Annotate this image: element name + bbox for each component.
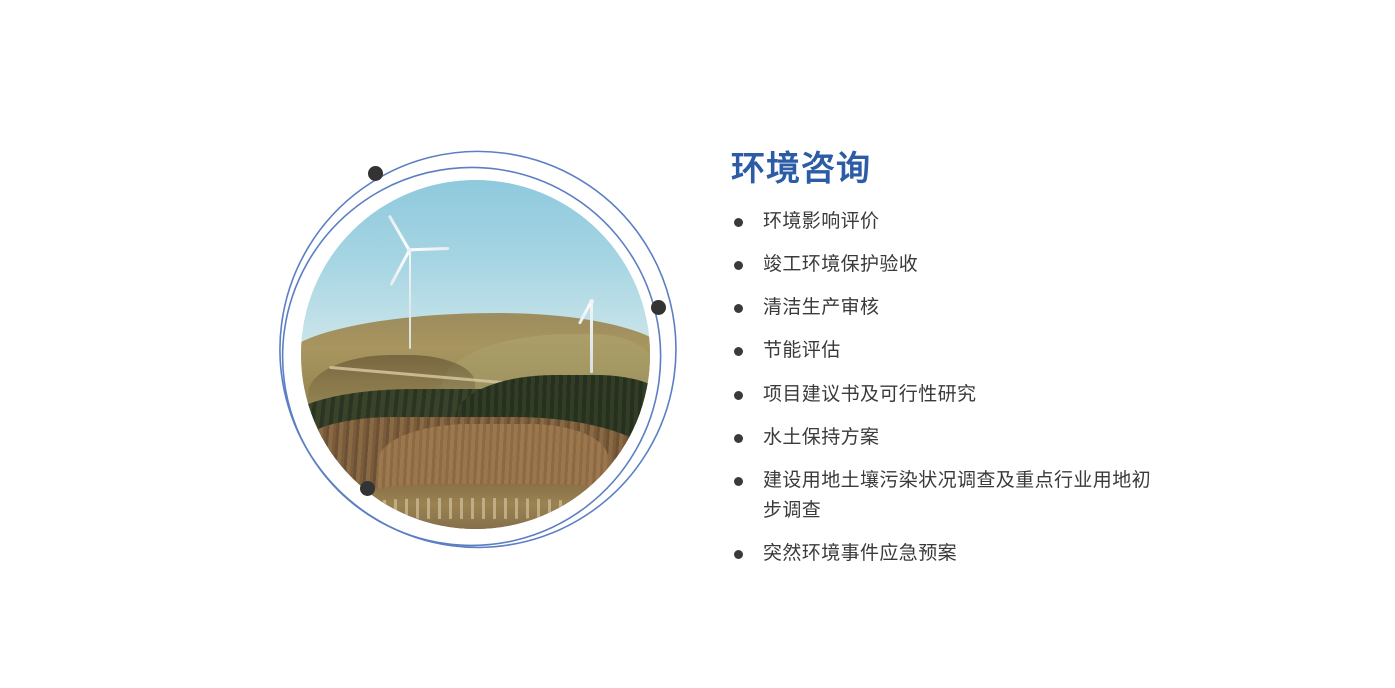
list-item-label: 环境影响评价: [763, 211, 879, 232]
list-item: 突然环境事件应急预案: [731, 539, 1151, 569]
turbine-hub: [407, 248, 412, 253]
clearing-detail: [350, 498, 594, 519]
list-item-label: 突然环境事件应急预案: [763, 543, 957, 564]
service-list: 环境影响评价 竣工环境保护验收 清洁生产审核 节能评估 项目建议书及可行性研究 …: [731, 207, 1151, 568]
turbine-mast: [590, 301, 593, 373]
list-item: 水土保持方案: [731, 423, 1151, 453]
page-title: 环境咨询: [731, 150, 1151, 189]
list-item-label: 建设用地土壤污染状况调查及重点行业用地初步调查: [763, 470, 1151, 521]
list-item: 节能评估: [731, 336, 1151, 366]
bullet-icon: [734, 550, 743, 559]
list-item: 清洁生产审核: [731, 293, 1151, 323]
content-column: 环境咨询 环境影响评价 竣工环境保护验收 清洁生产审核 节能评估 项目建议书及可…: [731, 150, 1151, 582]
list-item: 项目建议书及可行性研究: [731, 380, 1151, 410]
landscape-photo: [301, 180, 650, 529]
slide-root: 环境咨询 环境影响评价 竣工环境保护验收 清洁生产审核 节能评估 项目建议书及可…: [0, 0, 1395, 688]
turbine-hub: [589, 299, 594, 304]
ring-dot-bottom: [360, 481, 375, 496]
bullet-icon: [734, 391, 743, 400]
list-item-label: 竣工环境保护验收: [763, 254, 918, 275]
list-item-label: 节能评估: [763, 340, 841, 361]
bullet-icon: [734, 477, 743, 486]
turbine-blade: [390, 250, 411, 287]
bullet-icon: [734, 434, 743, 443]
wind-turbine-icon: [580, 285, 602, 373]
ring-dot-right: [651, 300, 666, 315]
list-item: 竣工环境保护验收: [731, 250, 1151, 280]
turbine-mast: [409, 250, 412, 348]
wind-turbine-icon: [392, 229, 428, 349]
list-item-label: 项目建议书及可行性研究: [763, 384, 976, 405]
list-item-label: 水土保持方案: [763, 427, 879, 448]
photo-scene: [301, 180, 650, 529]
bullet-icon: [734, 304, 743, 313]
list-item: 环境影响评价: [731, 207, 1151, 237]
list-item: 建设用地土壤污染状况调查及重点行业用地初步调查: [731, 466, 1151, 526]
list-item-label: 清洁生产审核: [763, 297, 879, 318]
bullet-icon: [734, 261, 743, 270]
ring-dot-top: [368, 166, 383, 181]
bullet-icon: [734, 218, 743, 227]
circular-visual: [270, 148, 682, 560]
bullet-icon: [734, 347, 743, 356]
